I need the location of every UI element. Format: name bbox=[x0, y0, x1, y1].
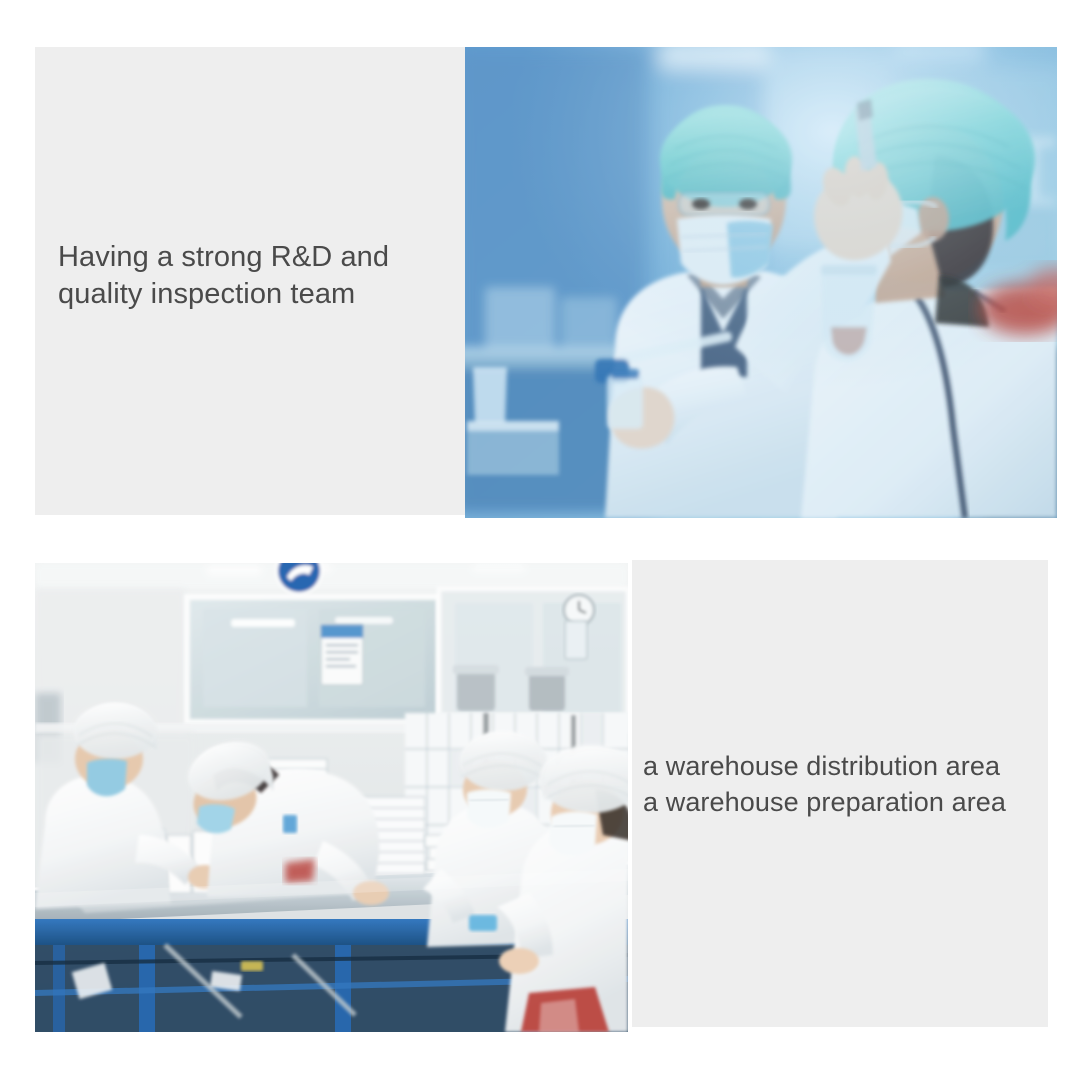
warehouse-packing-photo bbox=[35, 563, 628, 1032]
lab-inspection-photo bbox=[465, 47, 1057, 518]
top-caption-text: Having a strong R&D and quality inspecti… bbox=[58, 239, 458, 313]
top-caption-panel: Having a strong R&D and quality inspecti… bbox=[35, 47, 465, 515]
bottom-caption-panel: a warehouse distribution area a warehous… bbox=[632, 560, 1048, 1027]
bottom-caption-text: a warehouse distribution area a warehous… bbox=[643, 749, 1053, 820]
page-root: Having a strong R&D and quality inspecti… bbox=[0, 0, 1080, 1080]
lab-inspection-photo-svg bbox=[465, 47, 1057, 518]
top-section: Having a strong R&D and quality inspecti… bbox=[35, 47, 1057, 518]
warehouse-packing-photo-svg bbox=[35, 563, 628, 1032]
bottom-section: a warehouse distribution area a warehous… bbox=[35, 560, 1048, 1032]
